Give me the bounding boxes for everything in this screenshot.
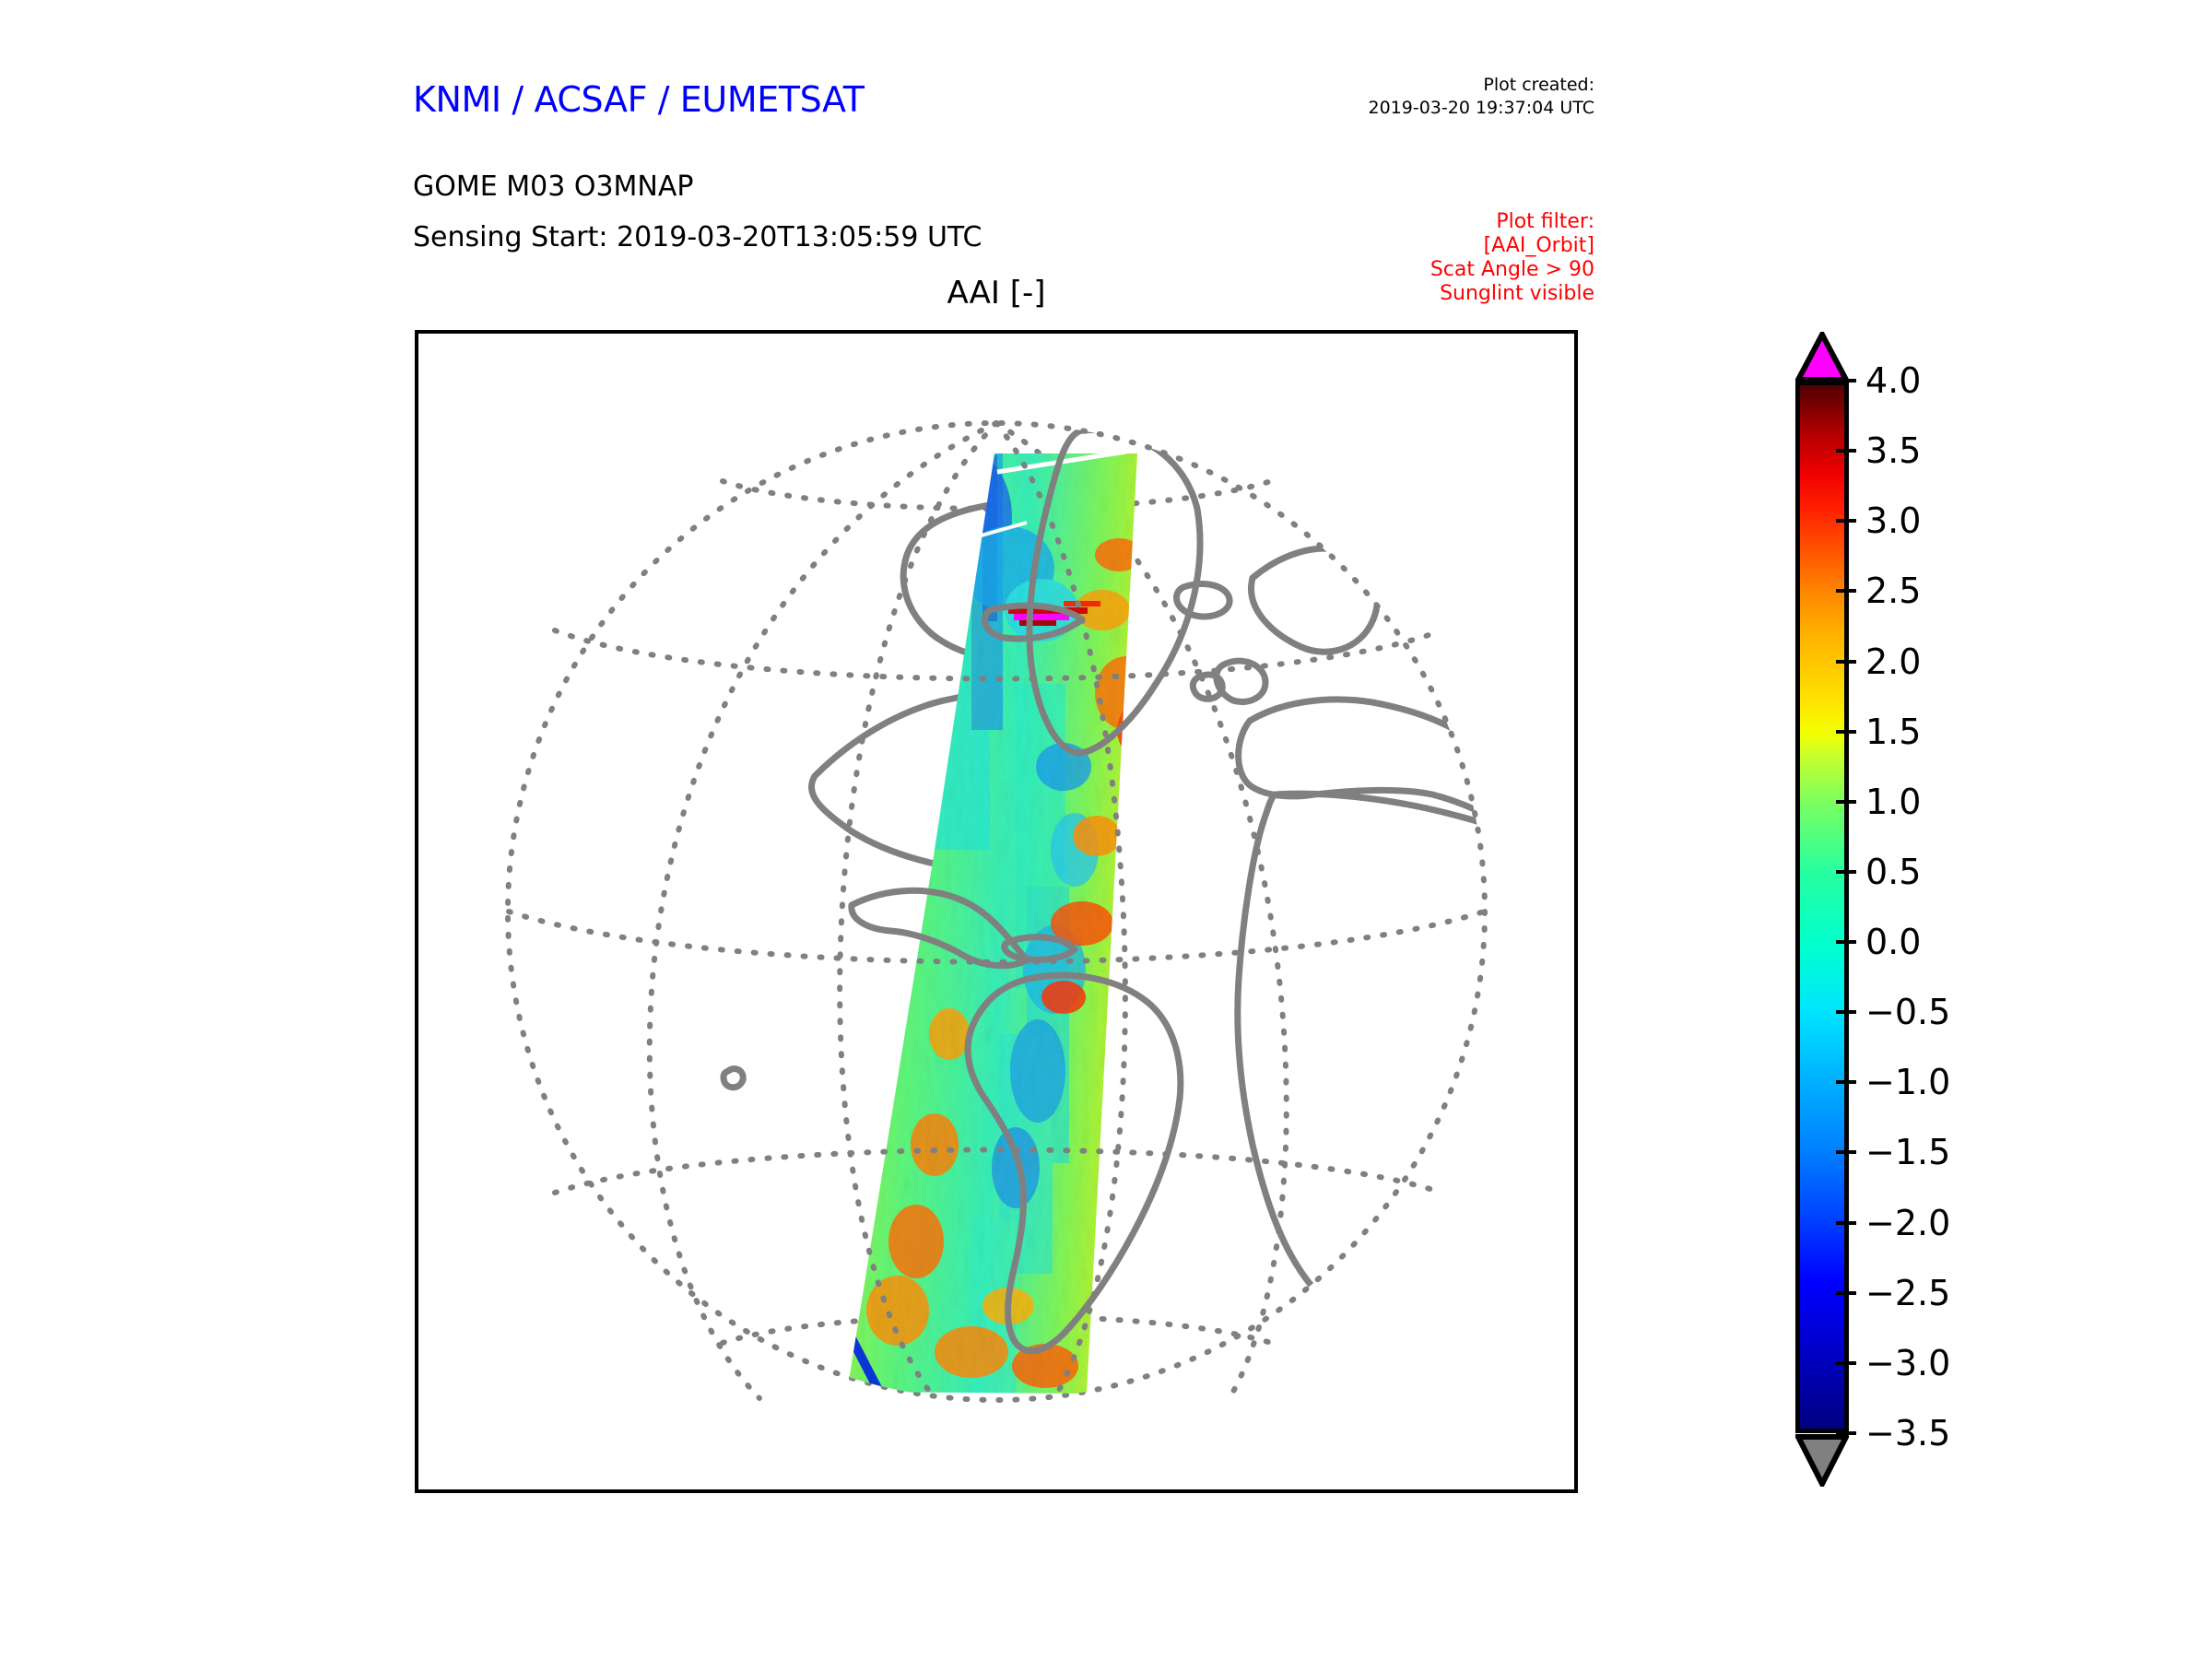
colorbar-tick [1836,449,1856,453]
colorbar-tick [1836,1431,1856,1435]
colorbar-tick-label: 2.5 [1865,573,1921,608]
colorbar-tick-label: −2.0 [1865,1206,1950,1241]
colorbar-tick [1836,379,1856,382]
colorbar-tick [1836,1361,1856,1365]
colorbar-tick [1836,730,1856,734]
colorbar-tick [1836,1291,1856,1295]
organisation-title: KNMI / ACSAF / EUMETSAT [413,79,865,120]
colorbar: 4.03.53.02.52.01.51.00.50.0−0.5−1.0−1.5−… [1795,332,2109,1521]
plot-created-label: Plot created: [1180,74,1594,97]
globe-graticule-and-coastlines [418,334,1574,1489]
figure-canvas: KNMI / ACSAF / EUMETSAT Plot created: 20… [0,0,2212,1659]
colorbar-under-arrow [1795,1433,1849,1487]
colorbar-tick-label: −3.5 [1865,1416,1950,1451]
colorbar-tick [1836,1010,1856,1014]
coast-southern-land [833,1404,1193,1463]
colorbar-tick-label: −2.5 [1865,1276,1950,1311]
coast-svalbard [1244,418,1303,463]
coast-madagascar [1530,1196,1560,1241]
colorbar-tick [1836,1150,1856,1154]
plot-created-block: Plot created: 2019-03-20 19:37:04 UTC [1180,74,1594,120]
coast-island-small [724,1069,743,1088]
coast-antarctica-coast [474,1426,630,1477]
colorbar-tick [1836,940,1856,944]
colorbar-tick-label: 3.0 [1865,503,1921,538]
colorbar-tick-label: 2.0 [1865,644,1921,679]
coast-europe-mainland [1239,700,1524,836]
coast-africa [1238,794,1574,1330]
colorbar-tick-label: 1.5 [1865,714,1921,749]
coast-antarctic-peninsula [526,1277,687,1422]
colorbar-tick-label: 0.5 [1865,854,1921,889]
map-inner [418,334,1574,1489]
colorbar-tick-label: −0.5 [1865,994,1950,1030]
plot-title: AAI [-] [415,275,1578,312]
colorbar-tick-label: −3.0 [1865,1346,1950,1381]
coast-scandinavia [1252,548,1378,652]
colorbar-tick-label: −1.5 [1865,1135,1950,1170]
plot-filter-title: Plot filter: [1189,210,1594,234]
colorbar-gradient [1795,381,1849,1433]
colorbar-tick-label: −1.0 [1865,1065,1950,1100]
colorbar-tick [1836,589,1856,593]
coast-eurasia-north [1303,429,1574,490]
coast-iceland [1177,583,1230,617]
colorbar-tick [1836,1221,1856,1225]
colorbar-tick-label: 3.5 [1865,433,1921,468]
colorbar-tick-label: 0.0 [1865,924,1921,959]
sensing-start-label: Sensing Start: 2019-03-20T13:05:59 UTC [413,221,982,253]
map-plot-area [415,330,1578,1493]
colorbar-tick [1836,519,1856,523]
coast-arabia [1524,843,1574,852]
colorbar-tick [1836,870,1856,874]
colorbar-tick [1836,660,1856,664]
colorbar-tick-label: 1.0 [1865,784,1921,819]
colorbar-tick [1836,1080,1856,1084]
plot-filter-product: [AAI_Orbit] [1189,234,1594,258]
colorbar-tick-label: 4.0 [1865,363,1921,398]
dataset-label: GOME M03 O3MNAP [413,171,693,203]
colorbar-tick [1836,800,1856,804]
plot-created-value: 2019-03-20 19:37:04 UTC [1180,97,1594,120]
colorbar-over-arrow [1795,332,1849,382]
